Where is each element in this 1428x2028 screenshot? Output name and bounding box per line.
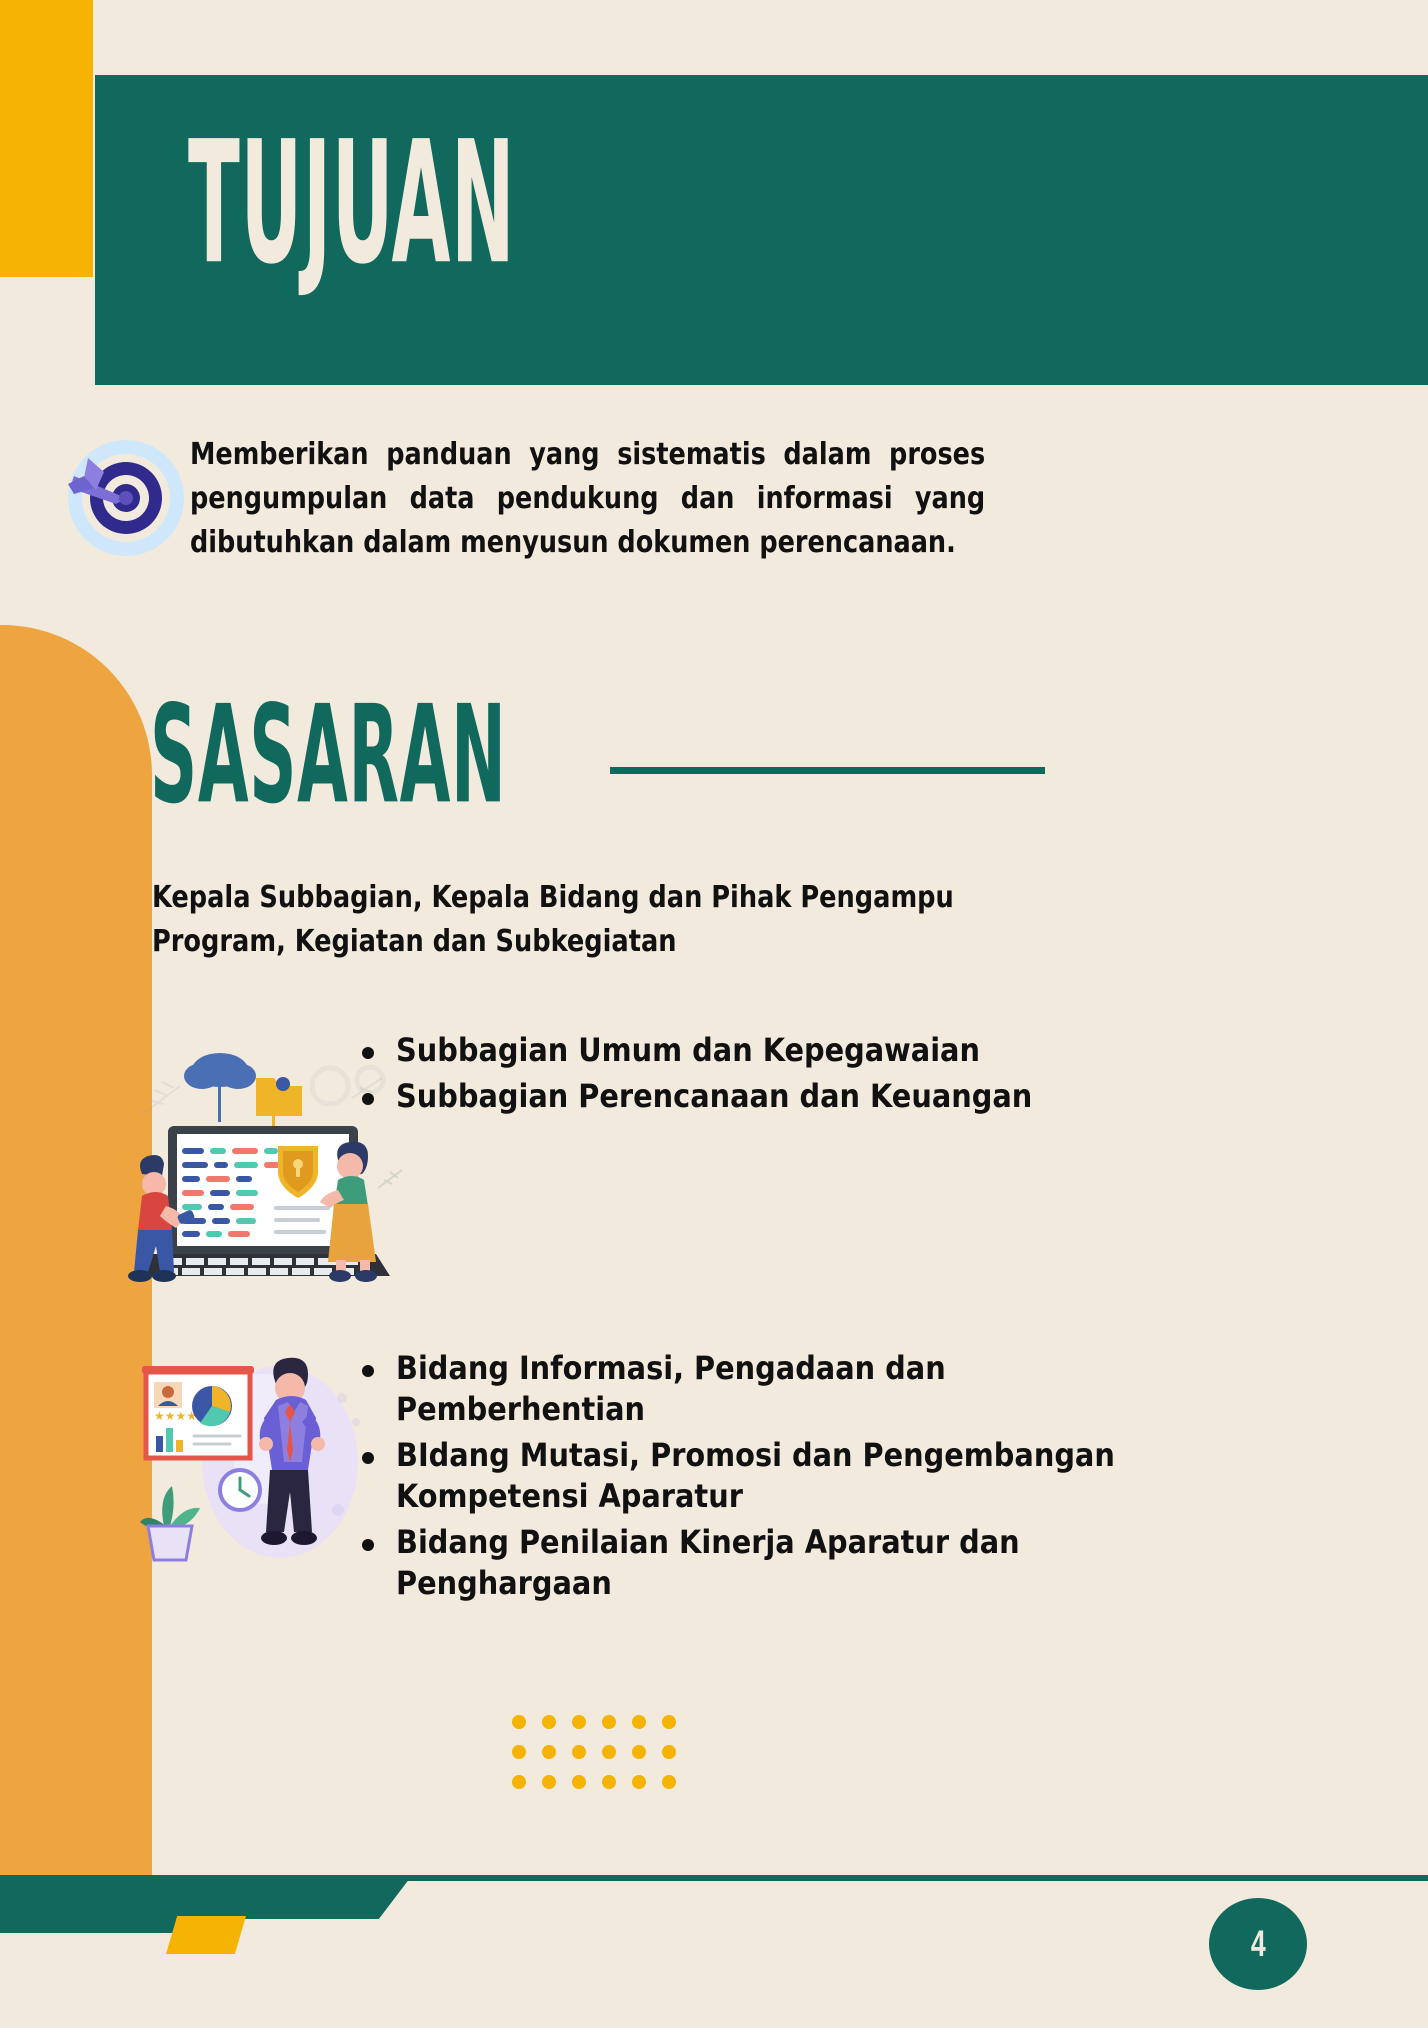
dot <box>662 1715 676 1729</box>
sasaran-group-2-list: Bidang Informasi, Pengadaan dan Pemberhe… <box>352 1348 1120 1609</box>
page-title-tujuan: TUJUAN <box>188 120 515 289</box>
dot <box>542 1775 556 1789</box>
list-item: BIdang Mutasi, Promosi dan Pengembangan … <box>352 1435 1120 1517</box>
dot <box>602 1715 616 1729</box>
dot <box>572 1715 586 1729</box>
page-number-label: 4 <box>1251 1923 1266 1965</box>
list-item: Subbagian Umum dan Kepegawaian <box>352 1030 1032 1071</box>
dot <box>632 1715 646 1729</box>
dot <box>512 1745 526 1759</box>
svg-text:★★★★: ★★★★ <box>154 1409 197 1423</box>
list-item: Bidang Penilaian Kinerja Aparatur dan Pe… <box>352 1522 1120 1604</box>
dot <box>542 1715 556 1729</box>
dot <box>572 1745 586 1759</box>
presentation-businessman-illustration: ★★★★ <box>130 1344 380 1574</box>
dot <box>542 1745 556 1759</box>
slide-page: TUJUAN Memberikan panduan yang sistemati… <box>0 0 1428 2028</box>
dot <box>572 1775 586 1789</box>
dot <box>512 1715 526 1729</box>
sasaran-subtitle: Kepala Subbagian, Kepala Bidang dan Piha… <box>152 876 979 963</box>
dot <box>632 1775 646 1789</box>
list-item: Subbagian Perencanaan dan Keuangan <box>352 1076 1032 1117</box>
dot <box>602 1745 616 1759</box>
list-item: Bidang Informasi, Pengadaan dan Pemberhe… <box>352 1348 1120 1430</box>
dot-grid-decoration <box>512 1715 692 1805</box>
page-number-badge: 4 <box>1209 1898 1307 1990</box>
dot <box>662 1775 676 1789</box>
footer-green-slant <box>150 1878 410 1919</box>
yellow-top-left-block <box>0 0 93 277</box>
dot <box>602 1775 616 1789</box>
dot <box>662 1745 676 1759</box>
dot <box>632 1745 646 1759</box>
sasaran-divider-rule <box>610 767 1045 774</box>
target-dartboard-icon <box>54 432 184 562</box>
section-title-sasaran: SASARAN <box>150 687 507 822</box>
sasaran-group-1-list: Subbagian Umum dan Kepegawaian Subbagian… <box>352 1030 1032 1122</box>
tujuan-paragraph: Memberikan panduan yang sistematis dalam… <box>190 433 985 565</box>
dot <box>512 1775 526 1789</box>
footer-yellow-slant <box>166 1916 246 1954</box>
